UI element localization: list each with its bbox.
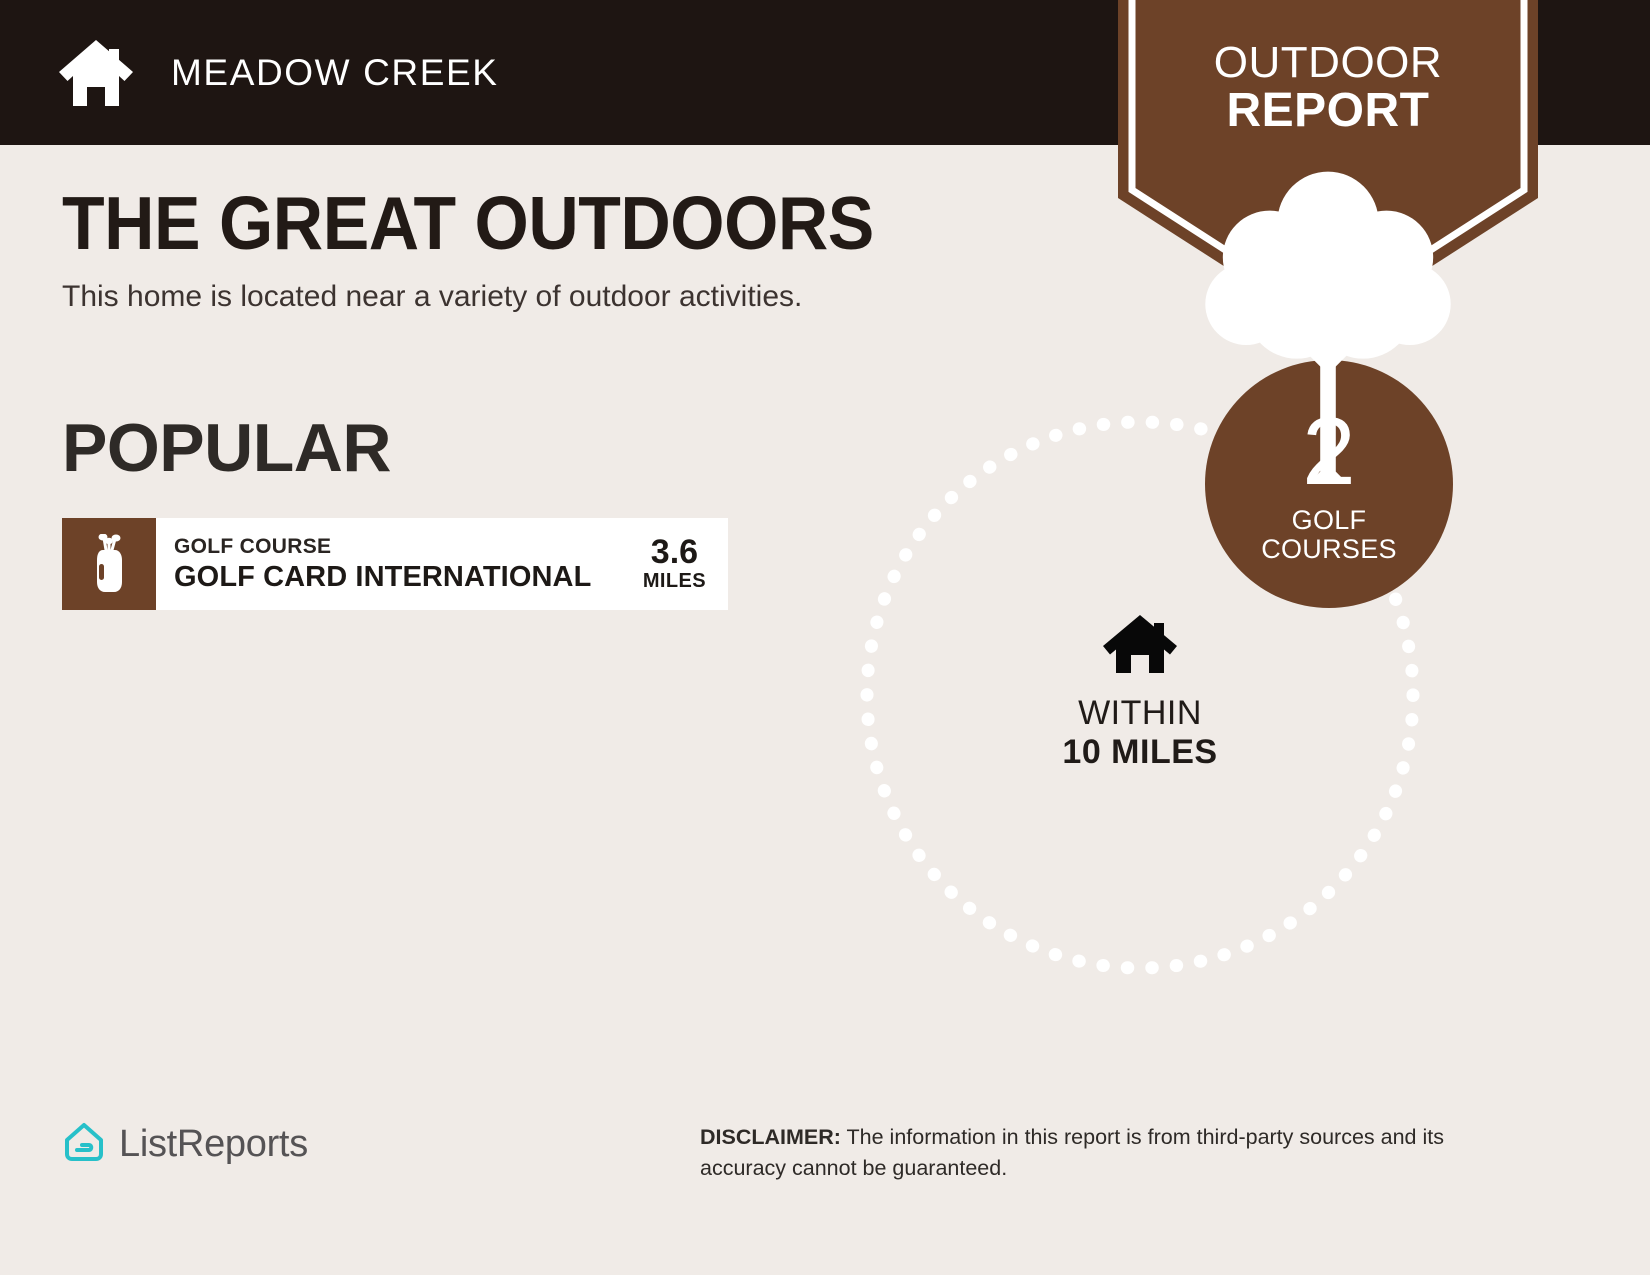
count-badge: 2 GOLF COURSES <box>1205 360 1453 608</box>
outdoor-report-shield: OUTDOOR REPORT <box>1118 0 1538 335</box>
list-item-name: GOLF CARD INTERNATIONAL <box>174 560 591 594</box>
section-heading-popular: POPULAR <box>62 414 391 482</box>
brand-name: MEADOW CREEK <box>171 52 499 94</box>
count-badge-number: 2 <box>1302 410 1355 494</box>
disclaimer-label: DISCLAIMER: <box>700 1125 841 1149</box>
within-label-group: WITHIN 10 MILES <box>940 613 1340 772</box>
within-label: WITHIN <box>940 694 1340 733</box>
popular-list: GOLF COURSE GOLF CARD INTERNATIONAL 3.6 … <box>62 518 728 624</box>
home-icon <box>57 38 135 108</box>
count-badge-label: GOLF COURSES <box>1261 506 1397 564</box>
home-icon <box>940 613 1340 680</box>
list-item-distance-unit: MILES <box>643 570 706 593</box>
list-item-distance-value: 3.6 <box>643 535 706 570</box>
listreports-logo[interactable]: ListReports <box>62 1120 308 1169</box>
within-value: 10 MILES <box>940 733 1340 772</box>
golf-bag-icon <box>62 518 156 610</box>
count-badge-label-line1: GOLF <box>1292 505 1367 535</box>
hero-block: THE GREAT OUTDOORS This home is located … <box>62 186 935 315</box>
page-title: THE GREAT OUTDOORS <box>62 186 874 261</box>
disclaimer: DISCLAIMER: The information in this repo… <box>700 1122 1512 1183</box>
page-subtitle: This home is located near a variety of o… <box>62 280 935 315</box>
list-item[interactable]: GOLF COURSE GOLF CARD INTERNATIONAL 3.6 … <box>62 518 728 610</box>
listreports-house-icon <box>62 1120 106 1169</box>
list-item-body: GOLF COURSE GOLF CARD INTERNATIONAL 3.6 … <box>156 518 728 610</box>
list-item-text: GOLF COURSE GOLF CARD INTERNATIONAL <box>174 534 591 594</box>
list-item-category: GOLF COURSE <box>174 534 591 560</box>
count-badge-label-line2: COURSES <box>1261 534 1397 564</box>
list-item-distance: 3.6 MILES <box>629 535 706 594</box>
listreports-logo-text: ListReports <box>119 1123 308 1166</box>
